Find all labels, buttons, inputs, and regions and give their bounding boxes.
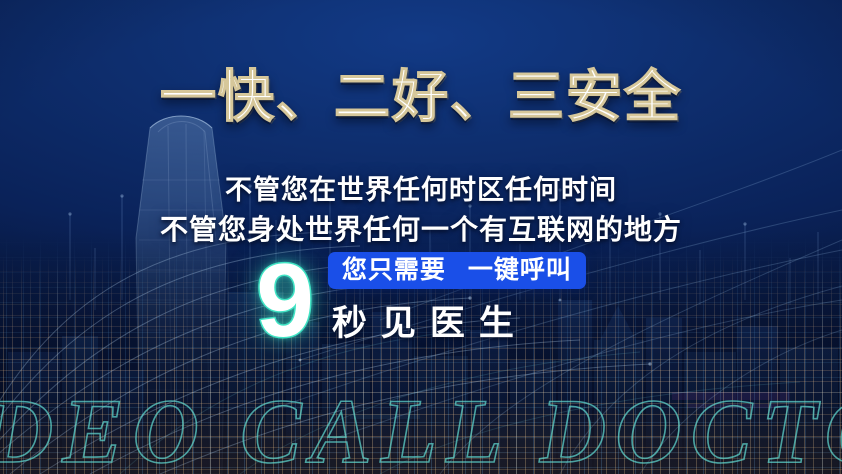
promo-poster: VIDEO CALL DOCTOR 一快、二好、三安全 不管您在世界任何时区任何… [0, 0, 842, 474]
one-tap-call-badge[interactable]: 您只需要 一键呼叫 [328, 252, 586, 289]
subtitle-line-2: 不管您身处世界任何一个有互联网的地方 [0, 208, 842, 248]
see-doctor-label: 秒见医生 [328, 295, 586, 346]
badge-label-left: 您只需要 [342, 257, 446, 283]
page-title: 一快、二好、三安全 [0, 52, 842, 133]
seconds-number: 9 [256, 254, 314, 350]
call-to-action-block: 9 您只需要 一键呼叫 秒见医生 [0, 252, 842, 350]
poster-content: 一快、二好、三安全 不管您在世界任何时区任何时间 不管您身处世界任何一个有互联网… [0, 0, 842, 474]
cta-text-column: 您只需要 一键呼叫 秒见医生 [328, 252, 586, 346]
badge-label-right: 一键呼叫 [468, 257, 572, 283]
subtitle-line-1: 不管您在世界任何时区任何时间 [0, 168, 842, 207]
